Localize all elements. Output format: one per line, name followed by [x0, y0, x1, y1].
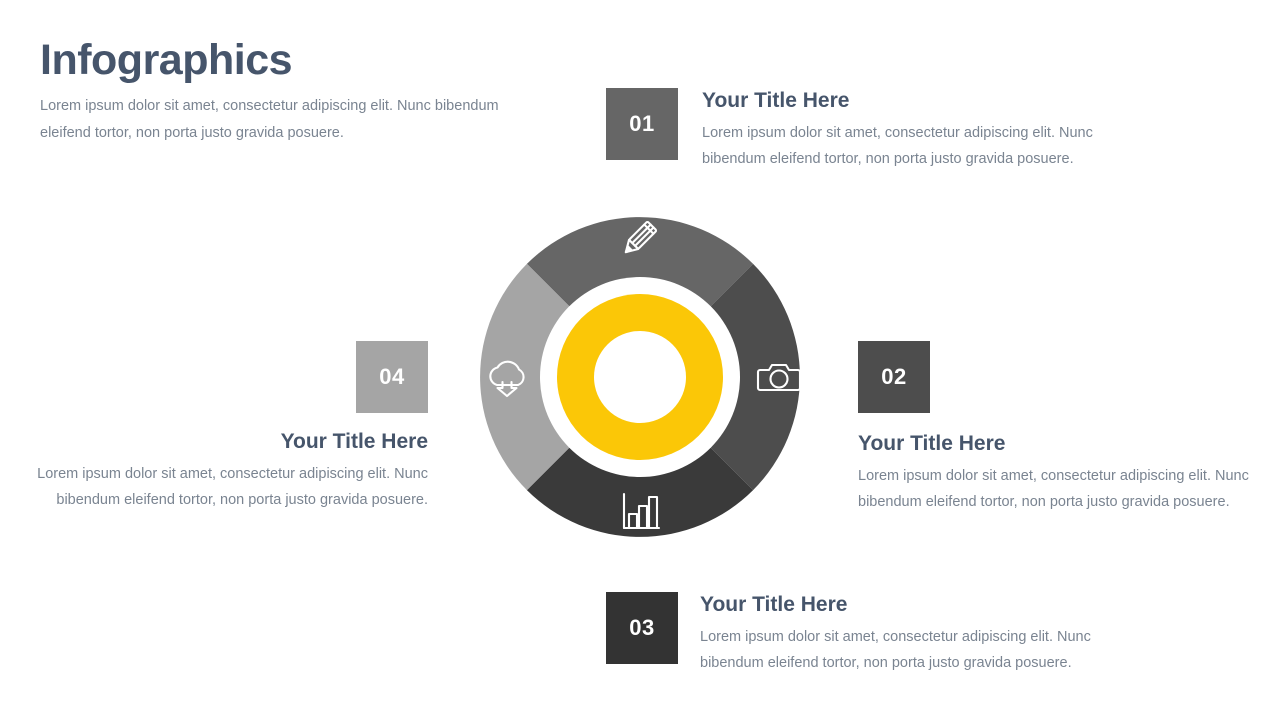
- page-title: Infographics: [40, 38, 540, 83]
- callout-03[interactable]: 03 Your Title Here Lorem ipsum dolor sit…: [606, 592, 1115, 676]
- callout-02[interactable]: 02 Your Title Here Lorem ipsum dolor sit…: [858, 341, 1278, 515]
- callout-04-description: Lorem ipsum dolor sit amet, consectetur …: [8, 462, 428, 513]
- badge-02: 02: [858, 341, 930, 413]
- callout-01-title: Your Title Here: [702, 88, 1110, 113]
- callout-02-description: Lorem ipsum dolor sit amet, consectetur …: [858, 464, 1278, 515]
- infographic-wheel: [450, 170, 830, 585]
- callout-01[interactable]: 01 Your Title Here Lorem ipsum dolor sit…: [606, 88, 1110, 172]
- badge-01: 01: [606, 88, 678, 160]
- callout-03-title: Your Title Here: [700, 592, 1115, 617]
- badge-04: 04: [356, 341, 428, 413]
- callout-01-text: Your Title Here Lorem ipsum dolor sit am…: [702, 88, 1110, 172]
- header: Infographics Lorem ipsum dolor sit amet,…: [40, 38, 540, 147]
- header-description: Lorem ipsum dolor sit amet, consectetur …: [40, 93, 520, 147]
- callout-03-description: Lorem ipsum dolor sit amet, consectetur …: [700, 625, 1115, 676]
- callout-01-description: Lorem ipsum dolor sit amet, consectetur …: [702, 121, 1110, 172]
- callout-04-title: Your Title Here: [8, 429, 428, 454]
- wheel-core: [594, 331, 686, 423]
- callout-04[interactable]: 04 Your Title Here Lorem ipsum dolor sit…: [8, 341, 428, 513]
- callout-02-text: Your Title Here Lorem ipsum dolor sit am…: [858, 431, 1278, 515]
- callout-02-title: Your Title Here: [858, 431, 1278, 456]
- callout-04-text: Your Title Here Lorem ipsum dolor sit am…: [8, 429, 428, 513]
- badge-03: 03: [606, 592, 678, 664]
- callout-03-text: Your Title Here Lorem ipsum dolor sit am…: [700, 592, 1115, 676]
